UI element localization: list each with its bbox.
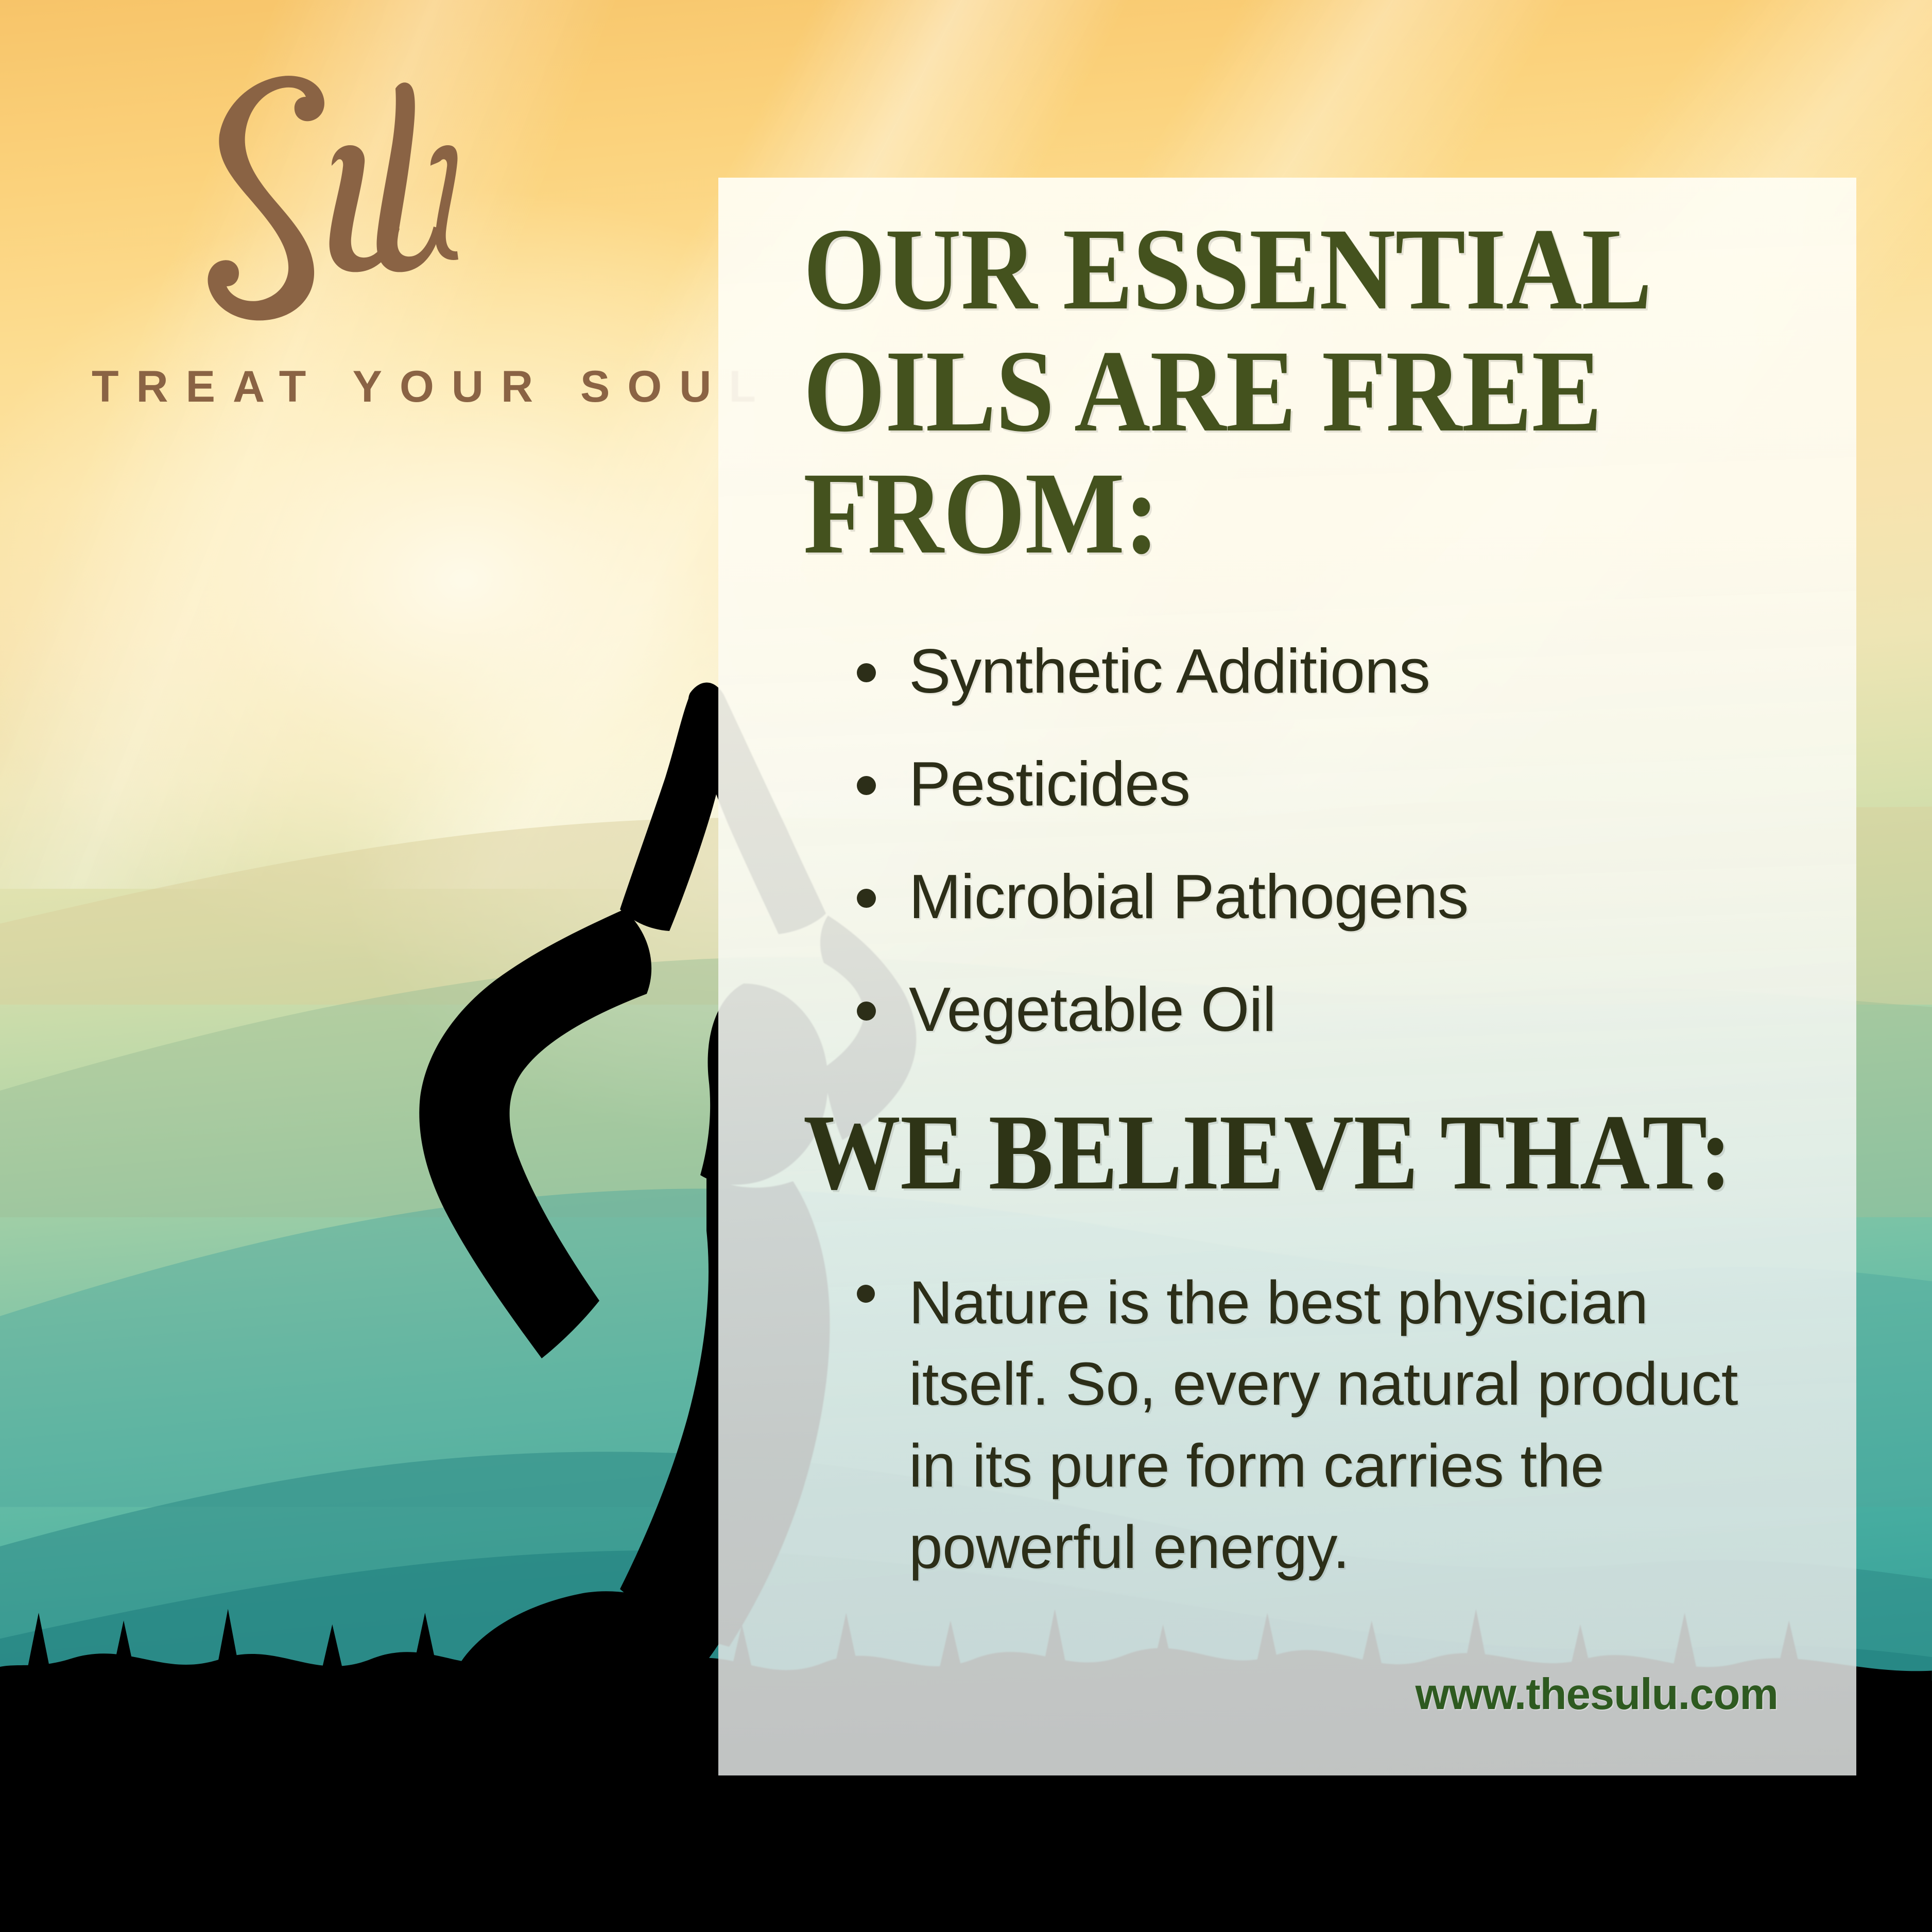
- list-item: Nature is the best physician itself. So,…: [844, 1262, 1746, 1588]
- page-title: OUR ESSENTIAL OILS ARE FREE FROM:: [803, 209, 1778, 575]
- brand-tagline: TREAT YOUR SOUL: [92, 365, 721, 409]
- section-subtitle: WE BELIEVE THAT:: [803, 1098, 1778, 1206]
- sulu-script-logo-icon: [88, 57, 458, 324]
- content-card: OUR ESSENTIAL OILS ARE FREE FROM: Synthe…: [718, 178, 1856, 1775]
- free-from-list: Synthetic Additions Pesticides Microbial…: [844, 640, 1779, 1041]
- promotional-poster: TREAT YOUR SOUL OUR ESSENTIAL OILS ARE F…: [0, 0, 1932, 1932]
- list-item: Vegetable Oil: [844, 978, 1779, 1041]
- list-item: Microbial Pathogens: [844, 865, 1779, 928]
- brand-logo: TREAT YOUR SOUL: [77, 57, 721, 409]
- beliefs-list: Nature is the best physician itself. So,…: [844, 1262, 1779, 1588]
- list-item: Pesticides: [844, 752, 1779, 815]
- website-url[interactable]: www.thesulu.com: [1416, 1669, 1778, 1720]
- list-item: Synthetic Additions: [844, 640, 1779, 702]
